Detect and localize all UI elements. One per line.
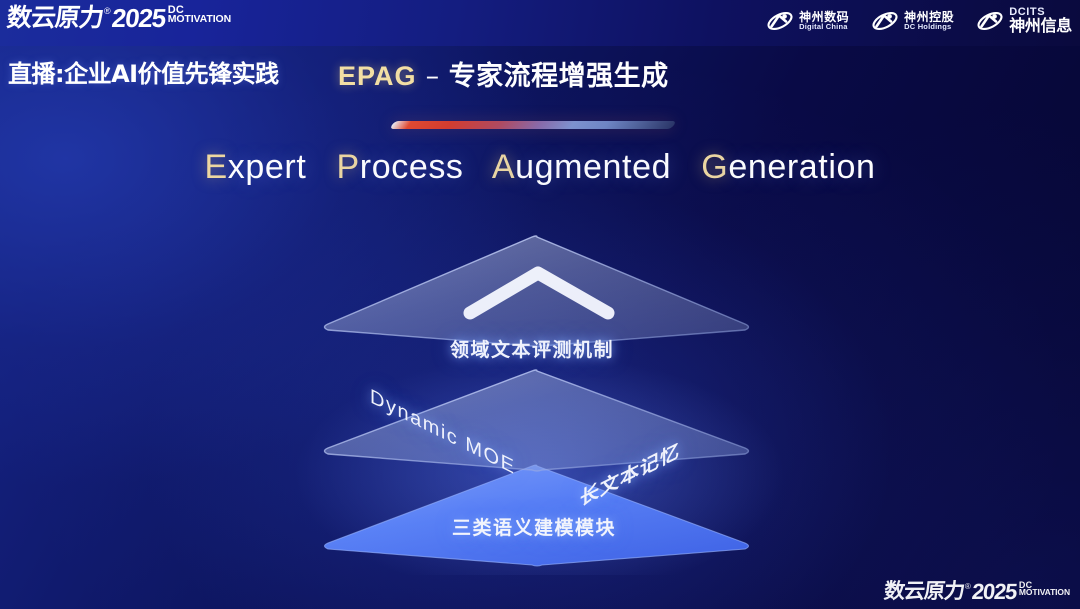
watermark-registered-mark: ® — [965, 582, 971, 591]
watermark-logo: 数云原力 ® 2025 DC MOTIVATION — [884, 581, 1070, 603]
swirl-logo-icon — [976, 10, 1004, 32]
layer-stack-diagram: 领域文本评测机制 Dynamic MOE 长文本记忆 三类语义建模模块 — [290, 225, 790, 575]
gradient-divider — [389, 121, 676, 129]
subtitle-rest: rocess — [360, 148, 464, 186]
subtitle-rest: xpert — [228, 148, 307, 186]
watermark-year: 2025 — [971, 581, 1017, 603]
watermark-dc-motivation: DC MOTIVATION — [1019, 581, 1070, 597]
subtitle-cap: A — [492, 148, 515, 186]
partner-label: 神州数码 Digital China — [799, 11, 849, 31]
subtitle-cap: G — [701, 148, 728, 186]
partner-name-cn: 神州信息 — [1009, 18, 1072, 34]
brand-dc-motivation: DC MOTIVATION — [168, 5, 231, 25]
subtitle-cap: E — [205, 148, 228, 186]
subtitle-word-expert: Expert — [205, 148, 307, 186]
swirl-logo-icon — [871, 10, 899, 32]
partner-logo-dcits: DCITS 神州信息 — [976, 7, 1072, 35]
partner-logo-digital-china: 神州数码 Digital China — [766, 10, 849, 32]
watermark-name-cn: 数云原力 — [883, 581, 965, 602]
partner-logo-group: 神州数码 Digital China 神州控股 DC Holdings — [766, 7, 1072, 35]
top-bar: 数云原力 ® 2025 DC MOTIVATION 神州数码 — [0, 0, 1080, 46]
space — [474, 148, 484, 186]
brand-year: 2025 — [110, 5, 166, 31]
partner-name-en: DC Holdings — [904, 23, 954, 31]
watermark-dc-line2: MOTIVATION — [1019, 589, 1070, 597]
space — [316, 148, 326, 186]
layer-plate-top[interactable] — [325, 236, 749, 347]
title-acronym: EPAG — [338, 61, 417, 91]
partner-logo-dc-holdings: 神州控股 DC Holdings — [871, 10, 954, 32]
brand-dc-line2: MOTIVATION — [168, 15, 231, 25]
brand-name-cn: 数云原力 — [6, 5, 105, 30]
title-chinese: 专家流程增强生成 — [449, 61, 669, 92]
space — [681, 148, 691, 186]
subtitle-word-process: Process — [337, 148, 464, 186]
subtitle-word-augmented: Augmented — [492, 148, 671, 186]
swirl-logo-icon — [766, 10, 794, 32]
registered-mark: ® — [104, 6, 111, 16]
subtitle-expansion: Expert Process Augmented Generation — [0, 148, 1080, 187]
subtitle-rest: eneration — [728, 148, 875, 186]
livestream-label: 直播:企业AI价值先锋实践 — [8, 54, 279, 89]
page-title: EPAG – 专家流程增强生成 — [338, 54, 669, 93]
subtitle-word-generation: Generation — [701, 148, 875, 186]
partner-label: 神州控股 DC Holdings — [904, 11, 954, 31]
brand-logo: 数云原力 ® 2025 DC MOTIVATION — [7, 5, 231, 31]
title-dash: – — [417, 61, 449, 92]
partner-name-en: Digital China — [799, 23, 849, 31]
subtitle-rest: ugmented — [515, 148, 671, 186]
subtitle-cap: P — [337, 148, 360, 186]
partner-label: DCITS 神州信息 — [1009, 7, 1072, 35]
slide-canvas: 数云原力 ® 2025 DC MOTIVATION 神州数码 — [0, 0, 1080, 609]
